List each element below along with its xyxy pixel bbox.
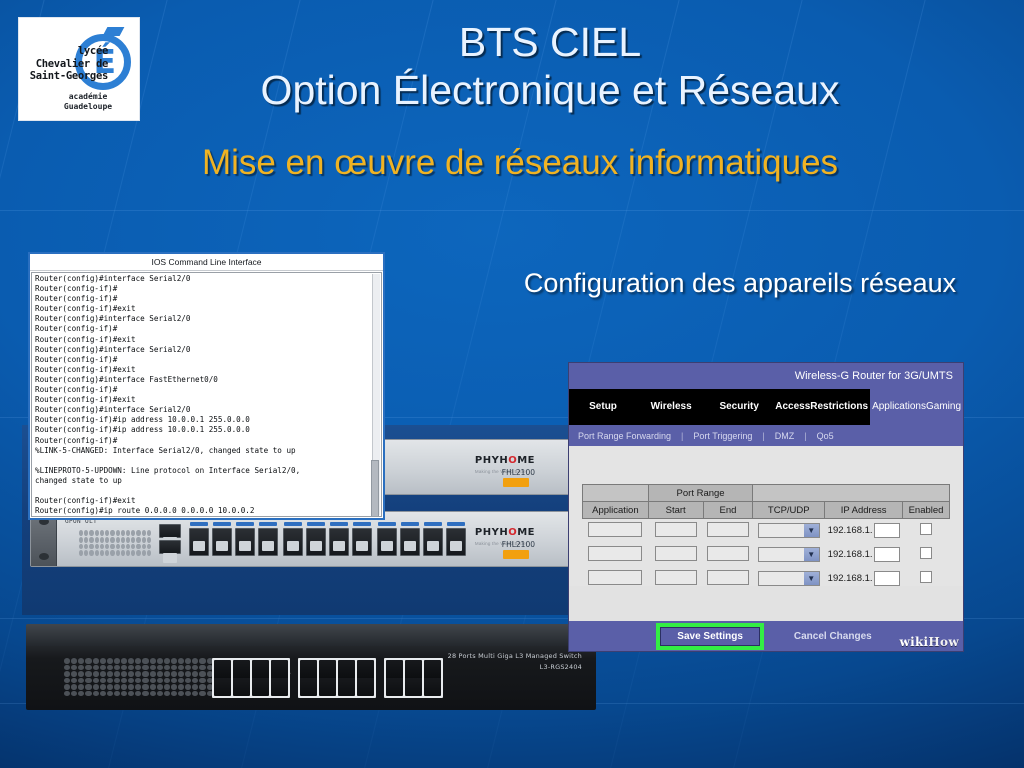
airlive-description: 28 Ports Multi Giga L3 Managed Switch: [448, 652, 582, 660]
photo-airlive-switch: airlive 28 Ports Multi Giga L3 Managed S…: [26, 624, 596, 710]
protocol-select[interactable]: ▼: [758, 547, 820, 562]
subnav-item-port-range-forwarding[interactable]: Port Range Forwarding: [578, 431, 671, 441]
port-range-forwarding-table: Port Range ApplicationStartEndTCP/UDPIP …: [582, 484, 950, 591]
subnav-separator: |: [681, 431, 683, 441]
terminal-line: %LINK-5-CHANGED: Interface Serial2/0, ch…: [35, 446, 379, 456]
terminal-line: Router(config-if)#exit: [35, 395, 379, 405]
table-column-header-row: ApplicationStartEndTCP/UDPIP AddressEnab…: [583, 502, 950, 519]
brand-accent: O: [508, 455, 517, 466]
cell-enabled: [903, 567, 950, 591]
router-tab-wireless[interactable]: Wireless: [637, 389, 705, 425]
ios-cli-window[interactable]: IOS Command Line Interface Router(config…: [28, 252, 385, 520]
rack-bottom-badge-icon: [503, 550, 529, 559]
cell-application: [583, 543, 649, 567]
group-header-blank: [583, 485, 649, 502]
terminal-line: %LINEPROTO-5-UPDOWN: Line protocol on In…: [35, 466, 379, 476]
tab-label-part: Restrictions: [810, 401, 868, 413]
application-input[interactable]: [588, 546, 642, 561]
router-tab-setup[interactable]: Setup: [569, 389, 637, 425]
terminal-body[interactable]: Router(config)#interface Serial2/0Router…: [31, 272, 382, 517]
title-line-2: Option Électronique et Réseaux: [150, 66, 950, 114]
terminal-line: Router(config-if)#exit: [35, 496, 379, 506]
cell-application: [583, 519, 649, 543]
application-input[interactable]: [588, 570, 642, 585]
tab-label-part: Gaming: [926, 401, 961, 413]
airlive-model: L3-RGS2404: [448, 663, 582, 671]
enabled-checkbox[interactable]: [920, 571, 932, 583]
router-tab-security[interactable]: Security: [705, 389, 773, 425]
column-header-ip-address: IP Address: [825, 502, 903, 519]
chevron-down-icon[interactable]: ▼: [804, 524, 819, 537]
cell-protocol: ▼: [753, 543, 825, 567]
terminal-line: Router(config)#ip route 0.0.0.0 0.0.0.0 …: [35, 506, 379, 516]
cell-protocol: ▼: [753, 519, 825, 543]
column-header-tcp-udp: TCP/UDP: [753, 502, 825, 519]
subnav-separator: |: [804, 431, 806, 441]
wikihow-watermark: wikiHow: [899, 635, 959, 649]
table-row: ▼192.168.1.: [583, 543, 950, 567]
terminal-line: Router(config-if)#: [35, 294, 379, 304]
rack-bottom-model: FHL2100: [502, 540, 535, 549]
router-tab-bar[interactable]: SetupWirelessSecurityAccessRestrictionsA…: [569, 389, 963, 425]
router-subnav[interactable]: Port Range Forwarding|Port Triggering|DM…: [569, 425, 963, 446]
terminal-line: Router(config)#interface Serial2/0: [35, 345, 379, 355]
terminal-line: Router(config-if)#ip address 10.0.0.1 25…: [35, 425, 379, 435]
router-footer: Save Settings Cancel Changes wikiHow: [569, 621, 963, 651]
terminal-output: Router(config)#interface Serial2/0Router…: [35, 274, 379, 517]
cell-protocol: ▼: [753, 567, 825, 591]
cell-end: [703, 543, 753, 567]
ip-suffix-input[interactable]: [874, 547, 900, 562]
terminal-line: changed state to up: [35, 476, 379, 486]
terminal-line: Router(config)#interface Serial2/0: [35, 314, 379, 324]
rack-top-model: FHL2100: [502, 468, 535, 477]
brand-text-1: PHYH: [475, 527, 508, 538]
tab-label-part: Wireless: [651, 401, 692, 413]
terminal-line: Router(config)#interface Serial2/0: [35, 274, 379, 284]
brand-text-2: ME: [517, 455, 535, 466]
chevron-down-icon[interactable]: ▼: [804, 548, 819, 561]
brand-accent: O: [508, 527, 517, 538]
terminal-line: Router(config)#interface Serial2/0: [35, 405, 379, 415]
ip-suffix-input[interactable]: [874, 523, 900, 538]
cell-enabled: [903, 543, 950, 567]
terminal-line: Router(config-if)#ip address 10.0.0.1 25…: [35, 415, 379, 425]
terminal-line: Router(config-if)#: [35, 324, 379, 334]
subnav-item-dmz[interactable]: DMZ: [775, 431, 795, 441]
tab-label-part: Applications: [872, 401, 926, 413]
subnav-separator: |: [762, 431, 764, 441]
tab-label-part: Access: [775, 401, 810, 413]
terminal-line: Router(config-if)#exit: [35, 304, 379, 314]
column-header-application: Application: [583, 502, 649, 519]
terminal-line: Router(config)#ip route 0.0.0.0 0.0.0.0 …: [35, 516, 379, 517]
page-title: BTS CIEL Option Électronique et Réseaux: [150, 18, 950, 114]
terminal-line: [35, 456, 379, 466]
cell-end: [703, 567, 753, 591]
protocol-select[interactable]: ▼: [758, 523, 820, 538]
table-group-header-row: Port Range: [583, 485, 950, 502]
end-port-input[interactable]: [707, 522, 749, 537]
enabled-checkbox[interactable]: [920, 547, 932, 559]
router-tab-applications-gaming[interactable]: ApplicationsGaming: [870, 389, 963, 425]
brand-text-2: ME: [517, 527, 535, 538]
table-row: ▼192.168.1.: [583, 519, 950, 543]
column-header-enabled: Enabled: [903, 502, 950, 519]
cell-ip-address: 192.168.1.: [825, 519, 903, 543]
group-header-blank-2: [753, 485, 950, 502]
tab-label-part: Security: [719, 401, 758, 413]
rack-top-badge-icon: [503, 478, 529, 487]
logo-school-name: lycée Chevalier de Saint-Georges: [24, 45, 108, 83]
end-port-input[interactable]: [707, 546, 749, 561]
ip-suffix-input[interactable]: [874, 571, 900, 586]
router-header: Wireless-G Router for 3G/UMTS: [569, 363, 963, 389]
terminal-line: Router(config-if)#: [35, 385, 379, 395]
terminal-line: Router(config-if)#: [35, 355, 379, 365]
terminal-scrollbar-thumb[interactable]: [371, 460, 379, 517]
terminal-line: Router(config-if)#exit: [35, 335, 379, 345]
terminal-title: IOS Command Line Interface: [30, 254, 383, 271]
terminal-line: Router(config-if)#: [35, 436, 379, 446]
cell-application: [583, 567, 649, 591]
logo-academy: académie Guadeloupe: [50, 92, 126, 111]
brand-text-1: PHYH: [475, 455, 508, 466]
start-port-input[interactable]: [655, 546, 697, 561]
router-tab-access-restrictions[interactable]: AccessRestrictions: [773, 389, 870, 425]
router-admin-panel[interactable]: Wireless-G Router for 3G/UMTS SetupWirel…: [568, 362, 964, 652]
save-settings-button[interactable]: Save Settings: [660, 627, 760, 646]
start-port-input[interactable]: [655, 522, 697, 537]
protocol-select[interactable]: ▼: [758, 571, 820, 586]
ip-prefix: 192.168.1.: [828, 549, 873, 560]
terminal-line: Router(config-if)#exit: [35, 365, 379, 375]
terminal-line: [35, 486, 379, 496]
cell-enabled: [903, 519, 950, 543]
column-header-end: End: [703, 502, 753, 519]
cell-start: [648, 543, 703, 567]
cell-start: [648, 567, 703, 591]
start-port-input[interactable]: [655, 570, 697, 585]
cell-ip-address: 192.168.1.: [825, 543, 903, 567]
router-content-panel: Port Range ApplicationStartEndTCP/UDPIP …: [569, 446, 963, 586]
cancel-changes-button[interactable]: Cancel Changes: [794, 631, 872, 642]
end-port-input[interactable]: [707, 570, 749, 585]
router-header-title: Wireless-G Router for 3G/UMTS: [795, 370, 953, 382]
school-logo: É lycée Chevalier de Saint-Georges acadé…: [18, 17, 140, 121]
cell-start: [648, 519, 703, 543]
column-header-start: Start: [648, 502, 703, 519]
chevron-down-icon[interactable]: ▼: [804, 572, 819, 585]
terminal-scrollbar[interactable]: [372, 274, 380, 515]
ip-prefix: 192.168.1.: [828, 525, 873, 536]
subnav-item-port-triggering[interactable]: Port Triggering: [693, 431, 752, 441]
cell-end: [703, 519, 753, 543]
title-line-1: BTS CIEL: [150, 18, 950, 66]
enabled-checkbox[interactable]: [920, 523, 932, 535]
terminal-line: Router(config-if)#: [35, 284, 379, 294]
airlive-labels: 28 Ports Multi Giga L3 Managed Switch L3…: [448, 652, 582, 671]
slide-caption: Configuration des appareils réseaux: [480, 265, 1000, 301]
terminal-line: Router(config)#interface FastEthernet0/0: [35, 375, 379, 385]
application-input[interactable]: [588, 522, 642, 537]
subnav-item-qo5[interactable]: Qo5: [817, 431, 834, 441]
slide-canvas: É lycée Chevalier de Saint-Georges acadé…: [0, 0, 1024, 768]
group-header-port-range: Port Range: [648, 485, 753, 502]
table-row: ▼192.168.1.: [583, 567, 950, 591]
slide-subtitle: Mise en œuvre de réseaux informatiques: [170, 140, 870, 186]
table-body: ▼192.168.1.▼192.168.1.▼192.168.1.: [583, 519, 950, 591]
ip-prefix: 192.168.1.: [828, 573, 873, 584]
cell-ip-address: 192.168.1.: [825, 567, 903, 591]
tab-label-part: Setup: [589, 401, 617, 413]
